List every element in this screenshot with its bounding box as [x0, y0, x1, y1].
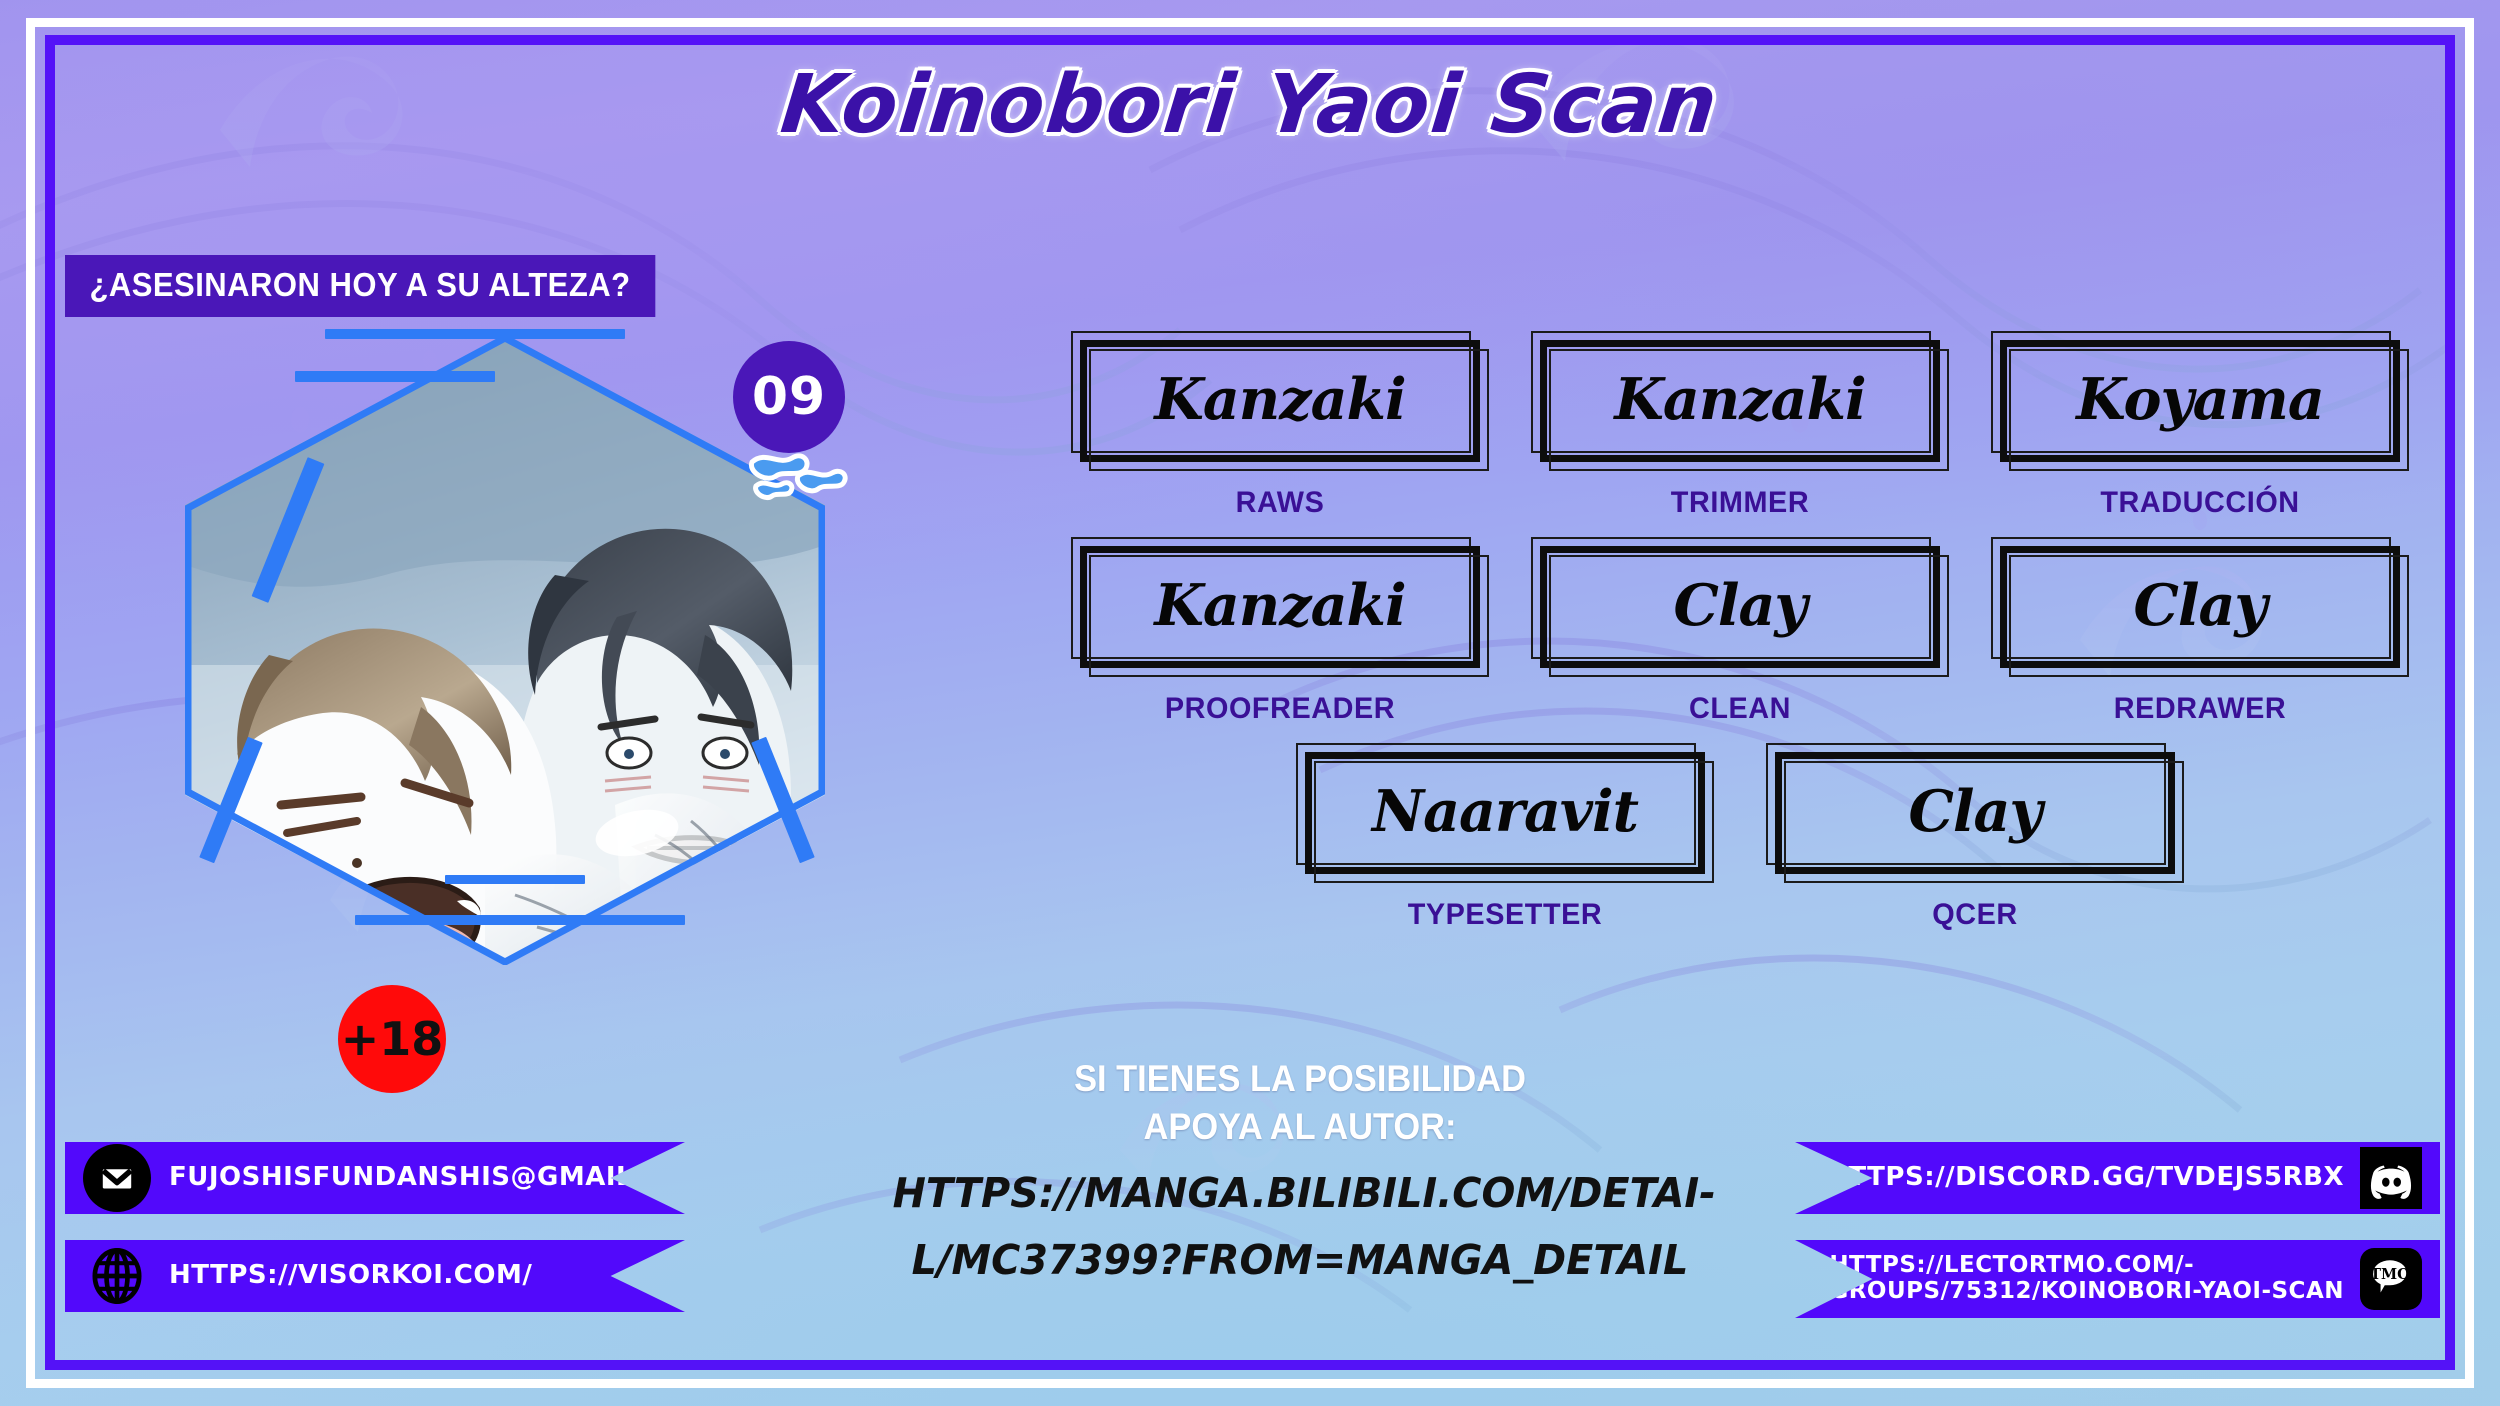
credit-item: Koyama TRADUCCIÓN — [2000, 340, 2400, 520]
support-url-line-1[interactable]: HTTPS://MANGA.BILIBILI.COM/DETAI- — [893, 1169, 1708, 1217]
tmo-text-line-2: GROUPS/75312/KOINOBORI-YAOI-SCAN — [1829, 1278, 2344, 1304]
credit-item: Kanzaki RAWS — [1080, 340, 1480, 520]
support-line-2: APOYA AL AUTOR: — [909, 1103, 1690, 1151]
credit-role: RAWS — [1088, 486, 1472, 520]
globe-icon — [83, 1242, 151, 1310]
credits-page: Koinobori Yaoi Scan ¿ASESINARON HOY A SU… — [0, 0, 2500, 1406]
credit-name: Kanzaki — [1540, 338, 1940, 460]
tmo-text: HTTPS://LECTORTMO.COM/- GROUPS/75312/KOI… — [1829, 1253, 2344, 1305]
credit-name: Clay — [1775, 750, 2175, 872]
credit-item: Naaravit TYPESETTER — [1305, 752, 1705, 932]
credits-row-2: Kanzaki PROOFREADER Clay CLEAN Cla — [1030, 546, 2450, 726]
credit-name: Kanzaki — [1080, 338, 1480, 460]
credit-name-box: Kanzaki — [1080, 546, 1480, 668]
deco-line-top — [325, 329, 625, 339]
support-url-line-2[interactable]: L/MC37399?FROM=MANGA_DETAIL — [893, 1236, 1708, 1284]
credit-name-box: Clay — [1775, 752, 2175, 874]
credit-name: Clay — [1540, 544, 1940, 666]
credit-name: Kanzaki — [1080, 544, 1480, 666]
discord-text: HTTPS://DISCORD.GG/TVDEJS5RBX — [1826, 1163, 2344, 1192]
credit-item: Clay QCER — [1775, 752, 2175, 932]
email-ribbon[interactable]: FUJOSHISFUNDANSHIS@GMAIL.COM — [65, 1142, 685, 1214]
credit-name-box: Kanzaki — [1540, 340, 1940, 462]
deco-line-top-inner — [295, 371, 495, 382]
credit-role: TRADUCCIÓN — [2008, 486, 2392, 520]
chapter-number-badge: 09 — [733, 341, 845, 453]
deco-line-bottom-inner — [445, 875, 585, 884]
credits-row-1: Kanzaki RAWS Kanzaki TRIMMER Koyam — [1030, 340, 2450, 520]
discord-icon — [2360, 1147, 2422, 1209]
credit-role: QCER — [1783, 898, 2167, 932]
credits-grid: Kanzaki RAWS Kanzaki TRIMMER Koyam — [1030, 340, 2450, 958]
credit-name-box: Clay — [2000, 546, 2400, 668]
discord-ribbon[interactable]: HTTPS://DISCORD.GG/TVDEJS5RBX — [1795, 1142, 2440, 1214]
credit-item: Kanzaki PROOFREADER — [1080, 546, 1480, 726]
hexagon-outline — [185, 335, 825, 965]
credit-role: TRIMMER — [1548, 486, 1932, 520]
svg-text:TMO: TMO — [2370, 1266, 2410, 1283]
website-text: HTTPS://VISORKOI.COM/ — [169, 1261, 532, 1290]
website-ribbon[interactable]: HTTPS://VISORKOI.COM/ — [65, 1240, 685, 1312]
tmo-icon: TMO — [2360, 1248, 2422, 1310]
credit-name: Clay — [2000, 544, 2400, 666]
age-rating-badge: +18 — [338, 985, 446, 1093]
credit-name-box: Clay — [1540, 546, 1940, 668]
credit-item: Kanzaki TRIMMER — [1540, 340, 1940, 520]
support-line-1: SI TIENES LA POSIBILIDAD — [909, 1055, 1690, 1103]
credit-role: REDRAWER — [2008, 692, 2392, 726]
credit-name-box: Koyama — [2000, 340, 2400, 462]
page-title: Koinobori Yaoi Scan — [0, 58, 2500, 152]
tmo-ribbon[interactable]: HTTPS://LECTORTMO.COM/- GROUPS/75312/KOI… — [1795, 1240, 2440, 1318]
credit-item: Clay CLEAN — [1540, 546, 1940, 726]
credit-name: Naaravit — [1305, 750, 1705, 872]
credit-role: PROOFREADER — [1088, 692, 1472, 726]
gmail-icon — [83, 1144, 151, 1212]
credit-role: TYPESETTER — [1313, 898, 1697, 932]
tmo-text-line-1: HTTPS://LECTORTMO.COM/- — [1829, 1252, 2194, 1278]
credits-row-3: Naaravit TYPESETTER Clay QCER — [1030, 752, 2450, 932]
credit-name-box: Kanzaki — [1080, 340, 1480, 462]
credit-name: Koyama — [2000, 338, 2400, 460]
support-author-block: SI TIENES LA POSIBILIDAD APOYA AL AUTOR:… — [880, 1055, 1720, 1284]
credit-name-box: Naaravit — [1305, 752, 1705, 874]
credit-item: Clay REDRAWER — [2000, 546, 2400, 726]
cover-art-hexagon — [185, 335, 825, 965]
series-title-bar: ¿ASESINARON HOY A SU ALTEZA? — [65, 255, 655, 317]
deco-line-bottom — [355, 915, 685, 925]
credit-role: CLEAN — [1548, 692, 1932, 726]
